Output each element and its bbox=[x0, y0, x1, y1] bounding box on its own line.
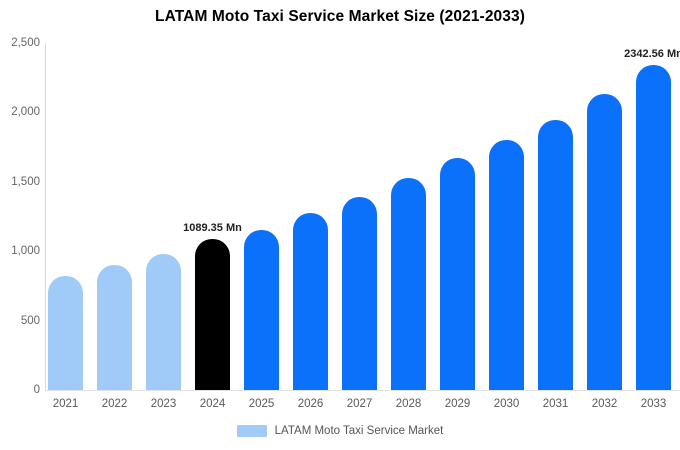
bar-2029[interactable] bbox=[440, 158, 475, 390]
data-label-2024: 1089.35 Mn bbox=[153, 222, 273, 234]
bar-2027[interactable] bbox=[342, 197, 377, 390]
bar-column-2033[interactable] bbox=[636, 43, 671, 390]
x-axis-tick-2025: 2025 bbox=[244, 398, 279, 410]
x-axis-tick-2026: 2026 bbox=[293, 398, 328, 410]
chart-legend[interactable]: LATAM Moto Taxi Service Market bbox=[0, 425, 680, 437]
y-axis-tick-2500: 2,500 bbox=[0, 37, 40, 49]
x-axis-line bbox=[45, 390, 680, 391]
data-label-2033: 2342.56 Mn bbox=[594, 48, 680, 60]
legend-label-latam-moto-taxi-service-market: LATAM Moto Taxi Service Market bbox=[275, 425, 444, 437]
bar-column-2031[interactable] bbox=[538, 43, 573, 390]
x-axis-tick-2027: 2027 bbox=[342, 398, 377, 410]
bar-column-2022[interactable] bbox=[97, 43, 132, 390]
bar-column-2029[interactable] bbox=[440, 43, 475, 390]
bar-column-2027[interactable] bbox=[342, 43, 377, 390]
x-axis-tick-2033: 2033 bbox=[636, 398, 671, 410]
x-axis-tick-2023: 2023 bbox=[146, 398, 181, 410]
plot-area bbox=[45, 43, 680, 390]
bar-2025[interactable] bbox=[244, 230, 279, 390]
x-axis-tick-2028: 2028 bbox=[391, 398, 426, 410]
x-axis-tick-2021: 2021 bbox=[48, 398, 83, 410]
bar-column-2030[interactable] bbox=[489, 43, 524, 390]
bar-2022[interactable] bbox=[97, 265, 132, 390]
bar-2032[interactable] bbox=[587, 94, 622, 390]
x-axis-tick-2029: 2029 bbox=[440, 398, 475, 410]
x-axis-tick-2024: 2024 bbox=[195, 398, 230, 410]
bar-column-2023[interactable] bbox=[146, 43, 181, 390]
x-axis-tick-2031: 2031 bbox=[538, 398, 573, 410]
bar-column-2025[interactable] bbox=[244, 43, 279, 390]
x-axis-tick-2022: 2022 bbox=[97, 398, 132, 410]
bar-2021[interactable] bbox=[48, 276, 83, 391]
y-axis-tick-1500: 1,500 bbox=[0, 176, 40, 188]
x-axis-tick-2032: 2032 bbox=[587, 398, 622, 410]
bar-2031[interactable] bbox=[538, 120, 573, 390]
x-axis-tick-2030: 2030 bbox=[489, 398, 524, 410]
y-axis-tick-labels: 05001,0001,5002,0002,500 bbox=[0, 0, 40, 450]
bar-2024[interactable] bbox=[195, 239, 230, 390]
bar-column-2026[interactable] bbox=[293, 43, 328, 390]
chart-title: LATAM Moto Taxi Service Market Size (202… bbox=[0, 8, 680, 26]
y-axis-tick-0: 0 bbox=[0, 384, 40, 396]
bar-column-2028[interactable] bbox=[391, 43, 426, 390]
y-axis-tick-2000: 2,000 bbox=[0, 106, 40, 118]
y-axis-tick-500: 500 bbox=[0, 315, 40, 327]
bar-2030[interactable] bbox=[489, 140, 524, 390]
bar-2033[interactable] bbox=[636, 65, 671, 390]
bar-column-2024[interactable] bbox=[195, 43, 230, 390]
bar-2023[interactable] bbox=[146, 254, 181, 390]
bar-column-2032[interactable] bbox=[587, 43, 622, 390]
bar-chart: LATAM Moto Taxi Service Market Size (202… bbox=[0, 0, 680, 450]
bar-2028[interactable] bbox=[391, 178, 426, 390]
y-axis-tick-1000: 1,000 bbox=[0, 245, 40, 257]
legend-swatch-latam-moto-taxi-service-market bbox=[237, 425, 267, 437]
bar-2026[interactable] bbox=[293, 213, 328, 390]
bar-column-2021[interactable] bbox=[48, 43, 83, 390]
